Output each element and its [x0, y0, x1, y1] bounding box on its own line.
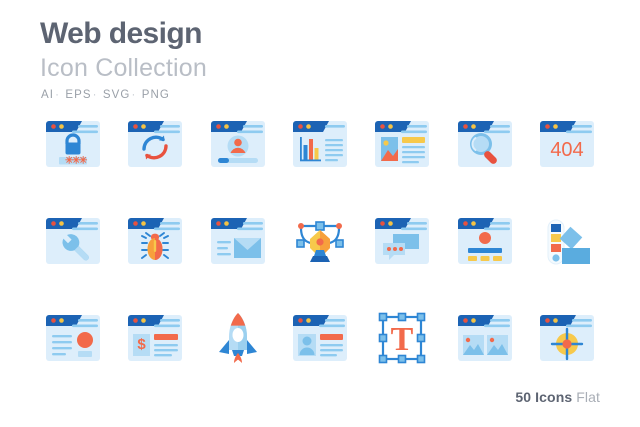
svg-text:✳: ✳ — [79, 156, 88, 167]
image-content-layout-icon — [366, 108, 438, 180]
page-subtitle: Icon Collection — [40, 54, 207, 83]
error-404-icon: 404 — [531, 108, 603, 180]
pen-tool-bezier-icon — [284, 205, 356, 277]
page-title: Web design — [40, 18, 207, 50]
bug-debug-icon — [119, 205, 191, 277]
icon-style-label: Flat — [576, 389, 600, 405]
format-ai: AI — [41, 89, 54, 101]
format-separator: · — [54, 89, 61, 101]
poster-header: Web design Icon Collection AI· EPS· SVG·… — [40, 18, 207, 101]
search-magnifier-icon — [449, 108, 521, 180]
maintenance-wrench-icon — [37, 205, 109, 277]
profile-card-page-icon — [449, 205, 521, 277]
typography-letter-label: T — [391, 321, 414, 358]
email-newsletter-icon — [202, 205, 274, 277]
user-id-card-icon — [284, 302, 356, 374]
icon-collection-poster: Web design Icon Collection AI· EPS· SVG·… — [0, 0, 640, 427]
analytics-chart-icon — [284, 108, 356, 180]
icon-count-label: 50 Icons — [515, 389, 572, 405]
refresh-sync-icon — [119, 108, 191, 180]
currency-symbol-label: $ — [138, 336, 147, 353]
target-goal-icon — [531, 302, 603, 374]
rocket-launch-icon — [202, 302, 274, 374]
footer-caption: 50 Icons Flat — [515, 389, 600, 405]
format-svg: SVG — [103, 89, 131, 101]
chat-comments-icon — [366, 205, 438, 277]
ecommerce-pricing-icon: $ — [119, 302, 191, 374]
format-eps: EPS — [65, 89, 91, 101]
format-separator: · — [92, 89, 99, 101]
typography-text-icon: T — [366, 302, 438, 374]
user-profile-page-icon — [202, 108, 274, 180]
format-png: PNG — [142, 89, 170, 101]
error-code-label: 404 — [550, 139, 583, 161]
image-gallery-icon — [449, 302, 521, 374]
format-separator: · — [130, 89, 137, 101]
icon-grid: ✳ ✳ ✳ — [32, 108, 608, 399]
password-security-icon: ✳ ✳ ✳ — [37, 108, 109, 180]
file-formats-list: AI· EPS· SVG· PNG — [41, 89, 207, 101]
color-swatch-palette-icon — [531, 205, 603, 277]
blog-article-icon — [37, 302, 109, 374]
